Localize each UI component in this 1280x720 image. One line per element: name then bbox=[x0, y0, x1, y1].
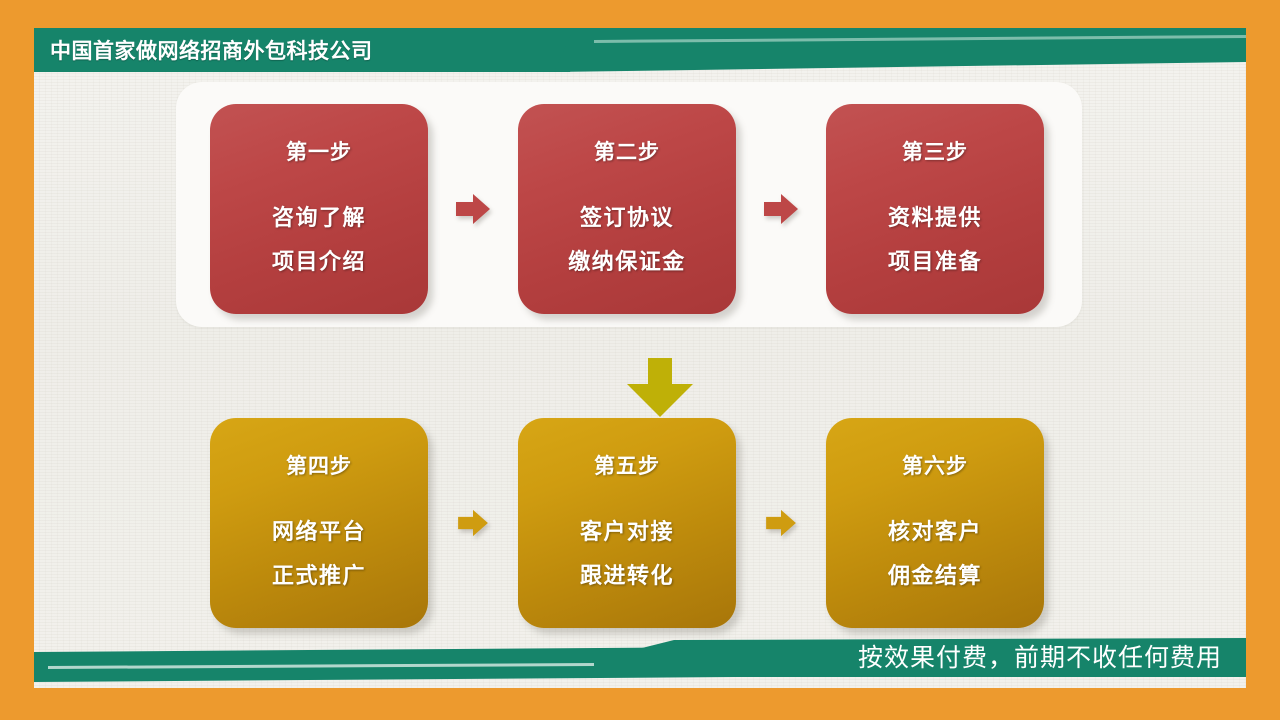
step-line: 咨询了解 bbox=[272, 200, 366, 232]
footer-tagline: 按效果付费，前期不收任何费用 bbox=[858, 638, 1222, 674]
step-number: 第三步 bbox=[902, 136, 968, 166]
step-card-5[interactable]: 第五步 客户对接 跟进转化 bbox=[518, 418, 736, 628]
step-number: 第一步 bbox=[286, 136, 352, 166]
steps-row-bottom: 第四步 网络平台 正式推广 第五步 客户对接 跟进转化 bbox=[210, 418, 1044, 628]
steps-row-top: 第一步 咨询了解 项目介绍 第二步 签订协议 缴纳保证金 bbox=[210, 104, 1044, 314]
step-line: 佣金结算 bbox=[888, 558, 982, 590]
arrow-right-icon-1 bbox=[428, 193, 518, 225]
step-card-6[interactable]: 第六步 核对客户 佣金结算 bbox=[826, 418, 1044, 628]
slide-root: 中国首家做网络招商外包科技公司 第一步 咨询了解 项目介绍 第二步 bbox=[0, 0, 1280, 720]
step-lines: 客户对接 跟进转化 bbox=[580, 514, 674, 590]
arrow-down-icon bbox=[625, 358, 695, 418]
arrow-right-icon-4 bbox=[736, 509, 826, 537]
step-card-4[interactable]: 第四步 网络平台 正式推广 bbox=[210, 418, 428, 628]
step-lines: 签订协议 缴纳保证金 bbox=[568, 200, 686, 276]
step-lines: 网络平台 正式推广 bbox=[272, 514, 366, 590]
step-line: 签订协议 bbox=[580, 200, 674, 232]
header-band: 中国首家做网络招商外包科技公司 bbox=[34, 28, 1246, 74]
step-lines: 核对客户 佣金结算 bbox=[888, 514, 982, 590]
step-number: 第六步 bbox=[902, 450, 968, 480]
step-lines: 资料提供 项目准备 bbox=[888, 200, 982, 276]
step-card-2[interactable]: 第二步 签订协议 缴纳保证金 bbox=[518, 104, 736, 314]
step-card-3[interactable]: 第三步 资料提供 项目准备 bbox=[826, 104, 1044, 314]
step-line: 客户对接 bbox=[580, 514, 674, 546]
arrow-right-icon-2 bbox=[736, 193, 826, 225]
step-line: 缴纳保证金 bbox=[568, 244, 686, 276]
step-line: 正式推广 bbox=[272, 558, 366, 590]
step-number: 第五步 bbox=[594, 450, 660, 480]
step-lines: 咨询了解 项目介绍 bbox=[272, 200, 366, 276]
step-line: 项目介绍 bbox=[272, 244, 366, 276]
step-line: 跟进转化 bbox=[580, 558, 674, 590]
step-line: 项目准备 bbox=[888, 244, 982, 276]
arrow-right-icon-3 bbox=[428, 509, 518, 537]
step-line: 核对客户 bbox=[888, 514, 982, 546]
step-line: 网络平台 bbox=[272, 514, 366, 546]
step-number: 第二步 bbox=[594, 136, 660, 166]
page-title: 中国首家做网络招商外包科技公司 bbox=[50, 32, 373, 68]
slide-canvas: 中国首家做网络招商外包科技公司 第一步 咨询了解 项目介绍 第二步 bbox=[34, 28, 1246, 688]
footer-band: 按效果付费，前期不收任何费用 bbox=[34, 626, 1246, 688]
step-card-1[interactable]: 第一步 咨询了解 项目介绍 bbox=[210, 104, 428, 314]
step-number: 第四步 bbox=[286, 450, 352, 480]
step-line: 资料提供 bbox=[888, 200, 982, 232]
